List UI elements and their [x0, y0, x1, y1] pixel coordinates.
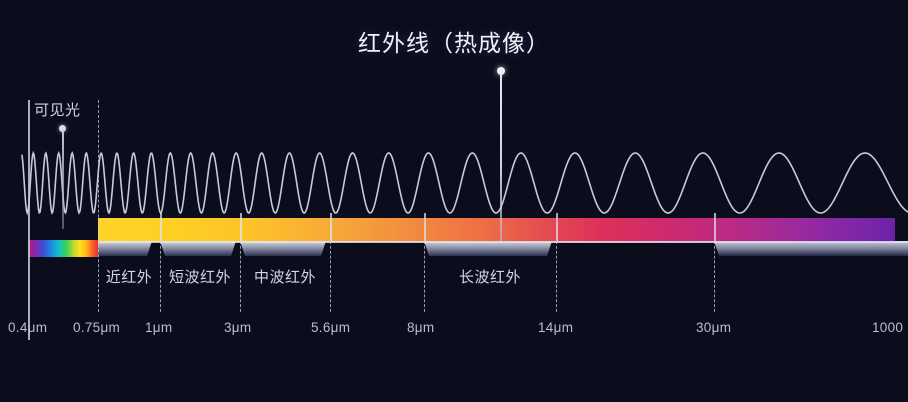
- axis-tick-label: 3μm: [224, 320, 251, 335]
- bar-separator-3um: [240, 213, 242, 242]
- visible-light-label: 可见光: [34, 99, 81, 120]
- spectrum-wave-graphic: [0, 0, 908, 402]
- tick-line-30um: [714, 241, 715, 312]
- callout-line: [500, 71, 502, 241]
- band-label-long-wave-infrared: 长波红外: [424, 266, 556, 287]
- infrared-spectrum-bar: [98, 218, 895, 242]
- bar-separator-14um: [556, 213, 558, 242]
- axis-tick-label: 14μm: [538, 320, 573, 335]
- axis-tick-label: 0.75μm: [73, 320, 120, 335]
- axis-tick-label: 1000: [872, 320, 903, 335]
- infographic-canvas: 红外线（热成像） 可见光 近红外 短波红外 中波红外 长波红外 0.4μm 0.…: [0, 0, 908, 402]
- band-label-short-wave-infrared: 短波红外: [160, 266, 240, 287]
- tick-line-5-6um: [330, 241, 331, 312]
- bar-separator-30um: [714, 213, 716, 242]
- tick-line-14um: [556, 241, 557, 312]
- visible-light-pointer-line: [62, 129, 64, 229]
- bar-separator-5-6um: [330, 213, 332, 242]
- axis-tick-label: 1μm: [145, 320, 172, 335]
- band-label-mid-wave-infrared: 中波红外: [240, 266, 330, 287]
- axis-tick-label: 5.6μm: [311, 320, 350, 335]
- wave-path: [22, 153, 908, 213]
- band-label-near-infrared: 近红外: [98, 266, 160, 287]
- band-brackets: [30, 241, 908, 256]
- axis-tick-label: 0.4μm: [8, 320, 47, 335]
- infrared-bar-underline: [98, 241, 908, 243]
- axis-tick-label: 30μm: [696, 320, 731, 335]
- bar-separator-1um: [160, 213, 162, 242]
- visible-light-left-edge: [28, 100, 30, 340]
- bar-separator-8um: [424, 213, 426, 242]
- page-title: 红外线（热成像）: [0, 24, 908, 58]
- axis-tick-label: 8μm: [407, 320, 434, 335]
- visible-light-bar: [28, 240, 98, 257]
